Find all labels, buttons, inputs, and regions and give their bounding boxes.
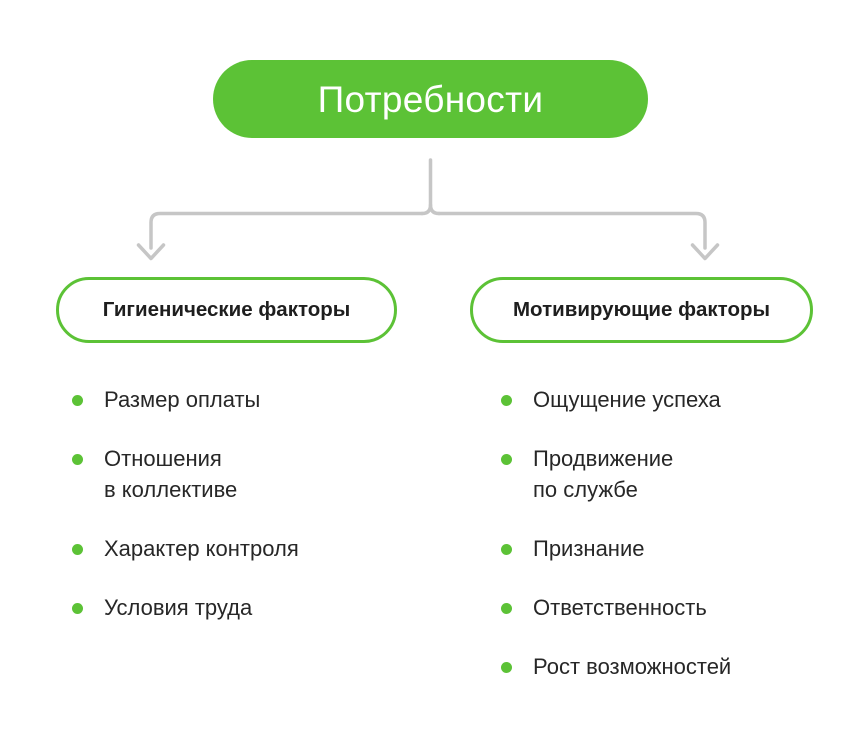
- connector-branch-right: [439, 214, 705, 249]
- category-node-motivating-label: Мотивирующие факторы: [513, 300, 770, 321]
- bullet-dot-icon: [501, 603, 512, 614]
- bullet-dot-icon: [72, 544, 83, 555]
- bullet-dot-icon: [72, 395, 83, 406]
- connector-stem-right-fillet: [431, 160, 440, 214]
- list-item-label: Признание: [533, 533, 846, 564]
- list-item-label: Размер оплаты: [104, 384, 412, 415]
- connector-stem-left-fillet: [422, 205, 431, 214]
- motivating-factor-list: Ощущение успеха Продвижение по службе Пр…: [501, 384, 846, 682]
- connector-branch-left: [151, 214, 422, 249]
- root-node-needs: Потребности: [213, 60, 648, 138]
- bullet-dot-icon: [501, 395, 512, 406]
- hygiene-factor-list: Размер оплаты Отношения в коллективе Хар…: [72, 384, 412, 623]
- list-item-label: Отношения в коллективе: [104, 443, 412, 505]
- list-item: Отношения в коллективе: [72, 443, 412, 505]
- arrowhead-right-icon: [693, 245, 718, 259]
- bullet-dot-icon: [501, 662, 512, 673]
- list-item: Признание: [501, 533, 846, 564]
- list-item-label: Ощущение успеха: [533, 384, 846, 415]
- bullet-dot-icon: [501, 454, 512, 465]
- list-item-label: Продвижение по службе: [533, 443, 846, 505]
- category-node-hygiene-label: Гигиенические факторы: [103, 300, 351, 321]
- list-item: Продвижение по службе: [501, 443, 846, 505]
- list-item: Ощущение успеха: [501, 384, 846, 415]
- list-item-label: Ответственность: [533, 592, 846, 623]
- list-item: Характер контроля: [72, 533, 412, 564]
- bullet-dot-icon: [72, 454, 83, 465]
- list-item: Ответственность: [501, 592, 846, 623]
- needs-hierarchy-diagram: Потребности Гигиенические факторы Мотиви…: [0, 0, 860, 752]
- category-node-motivating[interactable]: Мотивирующие факторы: [470, 277, 813, 343]
- root-node-label: Потребности: [318, 81, 544, 118]
- list-item-label: Характер контроля: [104, 533, 412, 564]
- list-item: Рост возможностей: [501, 651, 846, 682]
- bullet-dot-icon: [501, 544, 512, 555]
- list-item: Размер оплаты: [72, 384, 412, 415]
- arrowhead-left-icon: [139, 245, 164, 259]
- category-node-hygiene[interactable]: Гигиенические факторы: [56, 277, 397, 343]
- list-item-label: Условия труда: [104, 592, 412, 623]
- list-item-label: Рост возможностей: [533, 651, 846, 682]
- bullet-dot-icon: [72, 603, 83, 614]
- list-item: Условия труда: [72, 592, 412, 623]
